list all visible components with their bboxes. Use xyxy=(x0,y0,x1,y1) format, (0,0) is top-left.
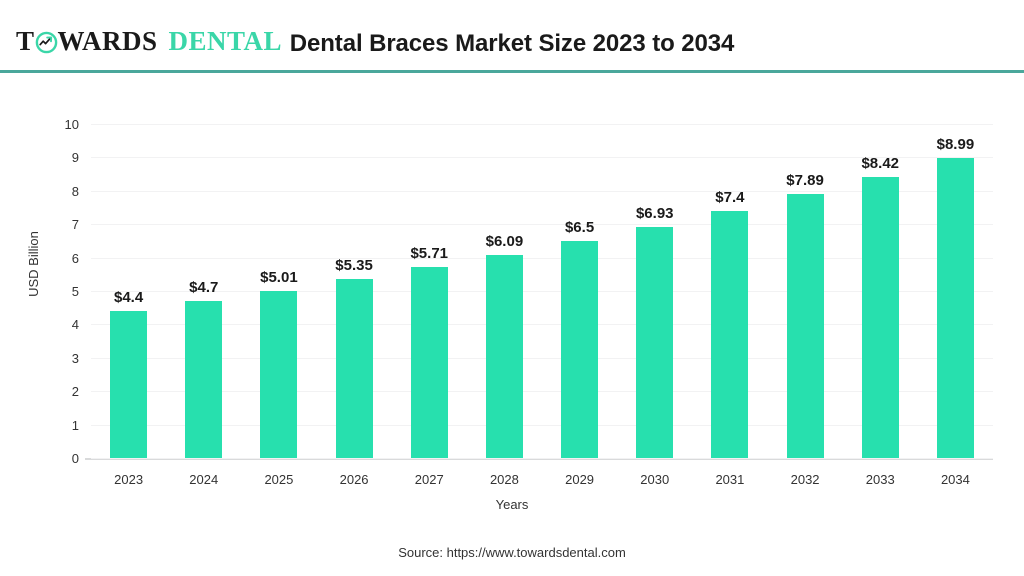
gridline xyxy=(91,324,993,325)
y-axis-tick-label: 2 xyxy=(49,385,79,398)
bar[interactable] xyxy=(937,158,974,458)
x-axis-tick-label: 2030 xyxy=(615,473,695,486)
gridline xyxy=(91,391,993,392)
x-axis-tick-label: 2023 xyxy=(89,473,169,486)
bar-value-label: $5.71 xyxy=(389,246,469,261)
bar[interactable] xyxy=(862,177,899,458)
bar[interactable] xyxy=(185,301,222,458)
y-axis-title: USD Billion xyxy=(26,204,41,324)
y-axis-tick-label: 1 xyxy=(49,419,79,432)
y-axis-tick-label: 3 xyxy=(49,352,79,365)
x-axis-tick-label: 2027 xyxy=(389,473,469,486)
page-title: Dental Braces Market Size 2023 to 2034 xyxy=(0,30,1024,58)
x-axis-tick-label: 2028 xyxy=(464,473,544,486)
y-axis-tick-label: 8 xyxy=(49,185,79,198)
x-axis-tick-label: 2026 xyxy=(314,473,394,486)
gridline xyxy=(91,358,993,359)
bar-value-label: $5.35 xyxy=(314,258,394,273)
y-axis-tick-label: 9 xyxy=(49,151,79,164)
source-note: Source: https://www.towardsdental.com xyxy=(0,545,1024,560)
gridline xyxy=(91,458,993,459)
bar-value-label: $6.5 xyxy=(540,220,620,235)
y-axis-tick-label: 5 xyxy=(49,285,79,298)
bar-value-label: $8.42 xyxy=(840,156,920,171)
plot-area: 109876543210$4.42023$4.72024$5.012025$5.… xyxy=(91,124,993,458)
bar-value-label: $8.99 xyxy=(915,137,995,152)
page-header: T WARDS DENTAL Dental Braces Market Size… xyxy=(0,0,1024,72)
bar-value-label: $5.01 xyxy=(239,270,319,285)
gridline xyxy=(91,191,993,192)
bar-value-label: $6.09 xyxy=(464,234,544,249)
x-axis-tick-label: 2032 xyxy=(765,473,845,486)
x-axis-tick-label: 2024 xyxy=(164,473,244,486)
x-axis-tick-label: 2025 xyxy=(239,473,319,486)
bar[interactable] xyxy=(787,194,824,458)
bar-value-label: $4.7 xyxy=(164,280,244,295)
bar[interactable] xyxy=(260,291,297,458)
bar-value-label: $7.89 xyxy=(765,173,845,188)
y-axis-tick-label: 10 xyxy=(49,118,79,131)
y-axis-tick-label: 6 xyxy=(49,252,79,265)
chart-container: USD Billion 109876543210$4.42023$4.72024… xyxy=(0,72,1024,576)
gridline xyxy=(91,425,993,426)
gridline xyxy=(91,258,993,259)
x-axis-tick-label: 2034 xyxy=(915,473,995,486)
bar[interactable] xyxy=(636,227,673,458)
bar[interactable] xyxy=(336,279,373,458)
y-axis-tick-label: 0 xyxy=(49,452,79,465)
bar[interactable] xyxy=(411,267,448,458)
y-axis-tick-label: 7 xyxy=(49,218,79,231)
y-axis-tick-label: 4 xyxy=(49,318,79,331)
bar[interactable] xyxy=(561,241,598,458)
x-axis-tick-label: 2031 xyxy=(690,473,770,486)
x-axis-tick-label: 2033 xyxy=(840,473,920,486)
bar-value-label: $6.93 xyxy=(615,206,695,221)
x-axis-title: Years xyxy=(0,497,1024,512)
gridline xyxy=(91,124,993,125)
bar-value-label: $4.4 xyxy=(89,290,169,305)
x-axis-tick-label: 2029 xyxy=(540,473,620,486)
bar[interactable] xyxy=(711,211,748,458)
bar-value-label: $7.4 xyxy=(690,190,770,205)
bar[interactable] xyxy=(110,311,147,458)
bar[interactable] xyxy=(486,255,523,458)
